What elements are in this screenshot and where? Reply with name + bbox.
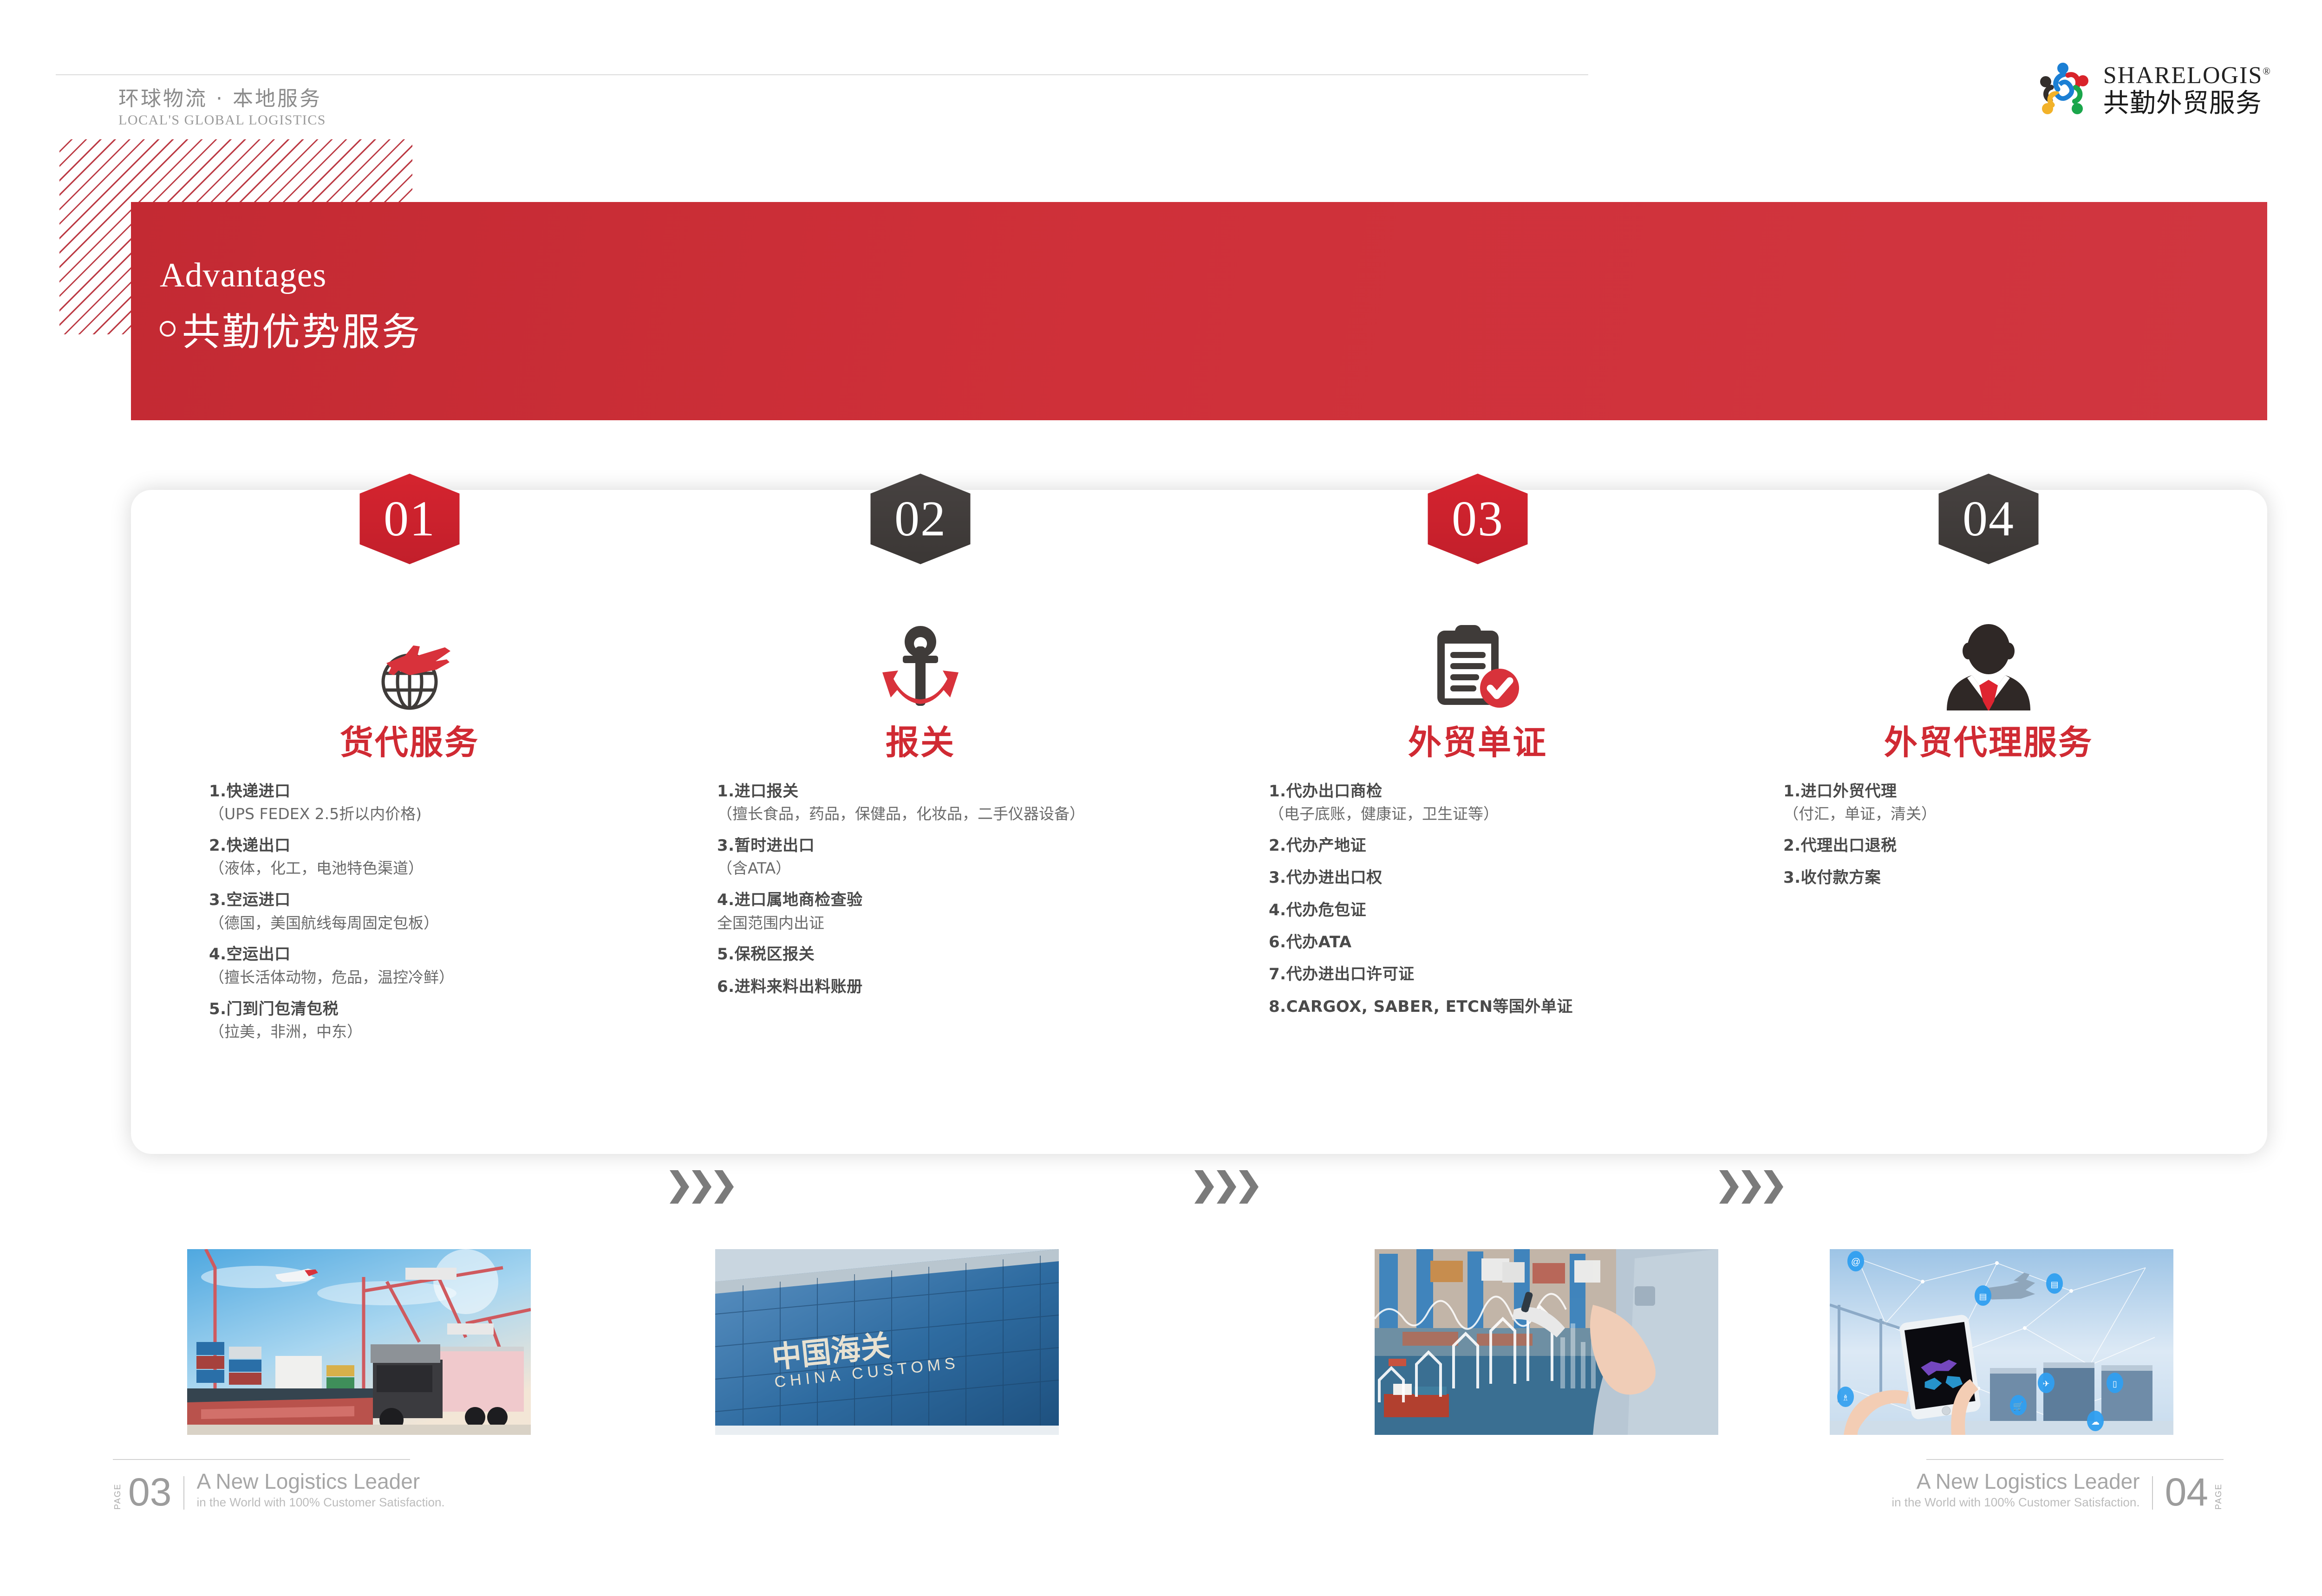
- chevron-triple-right-icon: [1719, 1170, 1783, 1204]
- step-badge-04: 04: [1939, 474, 2039, 564]
- column-items: 1.进口报关 （擅长食品，药品，保健品，化妆品，二手仪器设备） 3.暂时进出口 …: [665, 780, 1246, 1008]
- footer-divider-right: [1926, 1459, 2224, 1460]
- svg-text:@: @: [1851, 1257, 1860, 1267]
- header-tagline: 环球物流 · 本地服务 LOCAL'S GLOBAL LOGISTICS: [118, 86, 326, 128]
- page-label: PAGE: [2214, 1477, 2224, 1510]
- list-item: 6.进料来料出料账册: [717, 976, 1246, 998]
- footer-tagline-line1: A New Logistics Leader: [196, 1470, 444, 1493]
- step-badge-03: 03: [1428, 474, 1528, 564]
- list-item: 2.快递出口 （液体，化工，电池特色渠道）: [209, 834, 665, 879]
- list-item: 4.空运出口 （擅长活体动物，危品，温控冷鲜）: [209, 943, 665, 988]
- page-number: 04: [2165, 1475, 2208, 1510]
- logo-wordmark: SHARELOGIS® 共勤外贸服务: [2103, 64, 2271, 117]
- list-item: 3.收付款方案: [1783, 866, 2244, 889]
- step-number: 03: [1452, 494, 1504, 544]
- column-items: 1.进口外贸代理 （付汇，单证，清关） 2.代理出口退税 3.收付款方案: [1733, 780, 2244, 899]
- step-number: 01: [384, 494, 436, 544]
- inspector-clipboard-port-photo: [1375, 1249, 1718, 1435]
- advantage-column-3: 03: [1222, 474, 1733, 1356]
- list-item: 1.进口报关 （擅长食品，药品，保健品，化妆品，二手仪器设备）: [717, 780, 1246, 825]
- globe-plane-icon: [349, 622, 470, 710]
- footer-tagline-line2: in the World with 100% Customer Satisfac…: [196, 1495, 444, 1510]
- port-crane-truck-photo: [187, 1249, 531, 1435]
- advantage-column-2: 02 报关 1.进口报关 （擅长食品，药品，保健品，化妆品，二手仪器: [665, 474, 1176, 1356]
- header-divider: [56, 74, 1588, 75]
- step-badge-01: 01: [360, 474, 460, 564]
- section-banner: Advantages 共勤优势服务: [131, 202, 2267, 420]
- banner-title-english: Advantages: [160, 256, 422, 295]
- column-title: 报关: [665, 715, 1176, 764]
- footer-tagline-line1: A New Logistics Leader: [1892, 1470, 2139, 1493]
- column-title: 外贸单证: [1222, 715, 1733, 764]
- anchor-icon: [860, 622, 981, 710]
- list-item: 7.代办进出口许可证: [1269, 963, 1803, 986]
- svg-text:▤: ▤: [2050, 1280, 2058, 1289]
- sharelogis-emblem-icon: [2035, 60, 2094, 120]
- footer-left: PAGE 03 A New Logistics Leader in the Wo…: [113, 1470, 445, 1510]
- slide-page: 环球物流 · 本地服务 LOCAL'S GLOBAL LOGISTICS: [0, 0, 2322, 1596]
- logo-name-english: SHARELOGIS®: [2103, 64, 2271, 88]
- svg-text:▯: ▯: [2113, 1379, 2117, 1388]
- svg-text:♗: ♗: [1842, 1393, 1849, 1402]
- advantage-column-1: 01 货代服务 1.快递进口 （UPS F: [154, 474, 665, 1356]
- footer-right: A New Logistics Leader in the World with…: [1892, 1470, 2224, 1510]
- banner-title-chinese: 共勤优势服务: [160, 301, 422, 356]
- column-items: 1.快递进口 （UPS FEDEX 2.5折以内价格) 2.快递出口 （液体，化…: [154, 780, 665, 1052]
- list-item: 8.CARGOX, SABER, ETCN等国外单证: [1269, 996, 1803, 1018]
- digital-logistics-tablet-photo: @ ▤ ▤ ✈ ▯ ♗ 🛒 ☁: [1830, 1249, 2173, 1435]
- ring-bullet-icon: [160, 321, 176, 337]
- step-badge-02: 02: [871, 474, 971, 564]
- list-item: 1.代办出口商检 （电子底账，健康证，卫生证等）: [1269, 780, 1803, 825]
- advantage-column-4: 04 外贸代理服务 1.进口外贸代理 （付汇，单证，清关）: [1733, 474, 2244, 1356]
- chevron-triple-right-icon: [1194, 1170, 1259, 1204]
- footer-separator: [2152, 1476, 2153, 1510]
- list-item: 3.代办进出口权: [1269, 866, 1803, 889]
- list-item: 3.空运进口 （德国，美国航线每周固定包板）: [209, 889, 665, 934]
- list-item: 5.保税区报关: [717, 943, 1246, 966]
- step-number: 04: [1963, 494, 2015, 544]
- tagline-english: LOCAL'S GLOBAL LOGISTICS: [118, 112, 326, 128]
- clipboard-check-icon: [1417, 622, 1538, 710]
- businessman-icon: [1928, 622, 2049, 710]
- footer-tagline-line2: in the World with 100% Customer Satisfac…: [1892, 1495, 2139, 1510]
- advantage-columns: 01 货代服务 1.快递进口 （UPS F: [131, 474, 2267, 1356]
- svg-text:🛒: 🛒: [2013, 1401, 2023, 1411]
- column-title: 外贸代理服务: [1733, 715, 2244, 764]
- list-item: 6.代办ATA: [1269, 931, 1803, 954]
- registered-mark-icon: ®: [2263, 65, 2271, 77]
- footer-divider-left: [113, 1459, 410, 1460]
- company-logo: SHARELOGIS® 共勤外贸服务: [2035, 60, 2271, 120]
- page-number: 03: [128, 1475, 171, 1510]
- list-item: 2.代办产地证: [1269, 834, 1803, 857]
- column-title: 货代服务: [154, 715, 665, 764]
- list-item: 1.快递进口 （UPS FEDEX 2.5折以内价格): [209, 780, 665, 825]
- list-item: 4.进口属地商检查验 全国范围内出证: [717, 889, 1246, 934]
- list-item: 4.代办危包证: [1269, 899, 1803, 922]
- list-item: 1.进口外贸代理 （付汇，单证，清关）: [1783, 780, 2244, 825]
- step-number: 02: [894, 494, 946, 544]
- column-items: 1.代办出口商检 （电子底账，健康证，卫生证等） 2.代办产地证 3.代办进出口…: [1222, 780, 1803, 1028]
- tagline-chinese: 环球物流 · 本地服务: [118, 86, 326, 111]
- svg-text:▤: ▤: [1979, 1292, 1987, 1301]
- logo-name-chinese: 共勤外贸服务: [2103, 91, 2271, 117]
- chevron-triple-right-icon: [670, 1170, 734, 1204]
- footer-separator: [183, 1476, 184, 1510]
- list-item: 5.门到门包清包税 （拉美，非洲，中东）: [209, 998, 665, 1043]
- page-label: PAGE: [113, 1477, 123, 1510]
- list-item: 3.暂时进出口 （含ATA）: [717, 834, 1246, 879]
- list-item: 2.代理出口退税: [1783, 834, 2244, 857]
- svg-text:☁: ☁: [2091, 1417, 2100, 1427]
- svg-text:✈: ✈: [2042, 1379, 2049, 1388]
- china-customs-building-photo: 中国海关 CHINA CUSTOMS: [715, 1249, 1059, 1435]
